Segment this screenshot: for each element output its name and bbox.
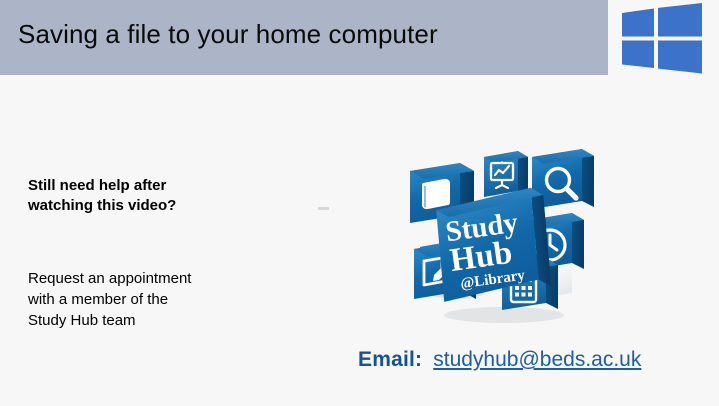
help-question-text: Still need help after watching this vide…	[28, 176, 258, 216]
appointment-line-3: Study Hub team	[28, 310, 258, 331]
appointment-line-2: with a member of the	[28, 289, 258, 310]
page-title: Saving a file to your home computer	[18, 19, 438, 50]
email-address-link[interactable]: studyhub@beds.ac.uk	[433, 348, 641, 371]
windows-logo	[618, 3, 704, 75]
help-question-line-2: watching this video?	[28, 196, 258, 216]
study-hub-logo: Study Hub @Library	[396, 143, 602, 329]
book-icon	[422, 179, 450, 209]
stray-dash-mark	[318, 207, 329, 210]
appointment-line-1: Request an appointment	[28, 268, 258, 289]
help-question-line-1: Still need help after	[28, 176, 258, 196]
appointment-instruction-text: Request an appointment with a member of …	[28, 268, 258, 331]
presentation-slide: Saving a file to your home computer Stil…	[0, 0, 719, 406]
email-label: Email:	[358, 348, 422, 371]
email-contact-line: Email:studyhub@beds.ac.uk	[358, 348, 641, 372]
